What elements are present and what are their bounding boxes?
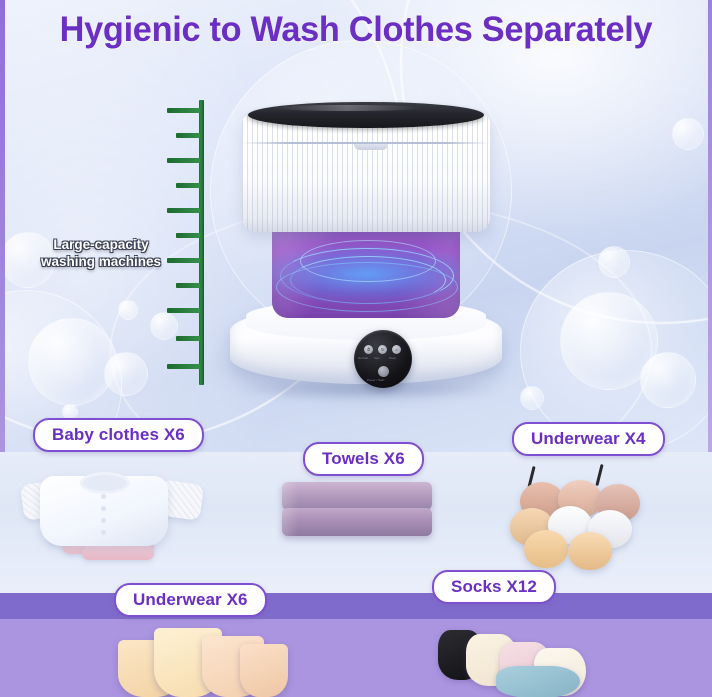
socks-photo <box>438 626 613 697</box>
button-caption: Drain <box>389 356 396 360</box>
baby-clothes-photo <box>22 462 202 572</box>
product-poster: Hygienic to Wash Clothes Separately Larg… <box>0 0 712 697</box>
background-bubble <box>104 352 148 396</box>
shirt-button <box>101 494 106 499</box>
ruler-tick <box>167 364 200 369</box>
panty-piece <box>240 644 288 697</box>
bra-strap <box>595 464 603 486</box>
machine-housing <box>242 114 490 232</box>
background-bubble <box>640 352 696 408</box>
power-caption: Power / Start <box>367 378 384 382</box>
sock <box>496 666 580 697</box>
machine-lid-highlight <box>272 105 422 111</box>
control-panel[interactable]: ⏱ ↻ ♨ Normal Spin Drain Power / Start <box>354 330 412 388</box>
spin-icon[interactable]: ↻ <box>378 345 387 354</box>
ruler-tick <box>167 108 200 113</box>
ruler-tick <box>176 183 200 188</box>
drum-sheen <box>272 226 460 318</box>
bra-cup <box>568 532 612 570</box>
folded-towel <box>282 508 432 536</box>
background-bubble <box>520 386 544 410</box>
capacity-ruler-label: Large-capacity washing machines <box>26 236 176 270</box>
power-icon[interactable] <box>378 366 389 377</box>
label-towels[interactable]: Towels X6 <box>303 442 424 476</box>
button-caption: Spin <box>374 356 380 360</box>
bras-photo <box>510 464 670 576</box>
washing-machine-product: ⏱ ↻ ♨ Normal Spin Drain Power / Start <box>216 86 516 416</box>
label-socks[interactable]: Socks X12 <box>432 570 556 604</box>
towel-edge <box>282 508 298 536</box>
background-bubble <box>672 118 704 150</box>
label-underwear-bras[interactable]: Underwear X4 <box>512 422 665 456</box>
ruler-bar <box>199 100 204 385</box>
folded-towels-photo <box>282 482 432 562</box>
ruler-tick <box>176 233 200 238</box>
ruler-tick <box>167 308 200 313</box>
background-bubble <box>28 318 116 406</box>
timer-icon[interactable]: ⏱ <box>364 345 373 354</box>
shirt-collar <box>80 472 130 494</box>
ruler-tick <box>167 158 200 163</box>
ruler-tick <box>167 208 200 213</box>
background-bubble <box>598 246 630 278</box>
label-underwear-panties[interactable]: Underwear X6 <box>114 583 267 617</box>
folded-towel <box>282 482 432 510</box>
ruler-tick <box>176 283 200 288</box>
machine-drum <box>272 226 460 318</box>
shirt-button <box>101 518 106 523</box>
folded-garment <box>82 546 154 560</box>
machine-lid-notch <box>354 144 388 150</box>
towel-edge <box>282 482 298 510</box>
drain-icon[interactable]: ♨ <box>392 345 401 354</box>
label-baby-clothes[interactable]: Baby clothes X6 <box>33 418 204 452</box>
button-caption: Normal <box>358 356 368 360</box>
panties-photo <box>118 622 288 697</box>
shirt-button <box>101 530 106 535</box>
ruler-tick <box>176 133 200 138</box>
bra-cup <box>524 530 568 568</box>
page-title: Hygienic to Wash Clothes Separately <box>7 10 705 50</box>
background-bubble <box>118 300 138 320</box>
purple-band-dark <box>0 593 712 619</box>
ruler-tick <box>176 336 200 341</box>
shirt-button <box>101 506 106 511</box>
